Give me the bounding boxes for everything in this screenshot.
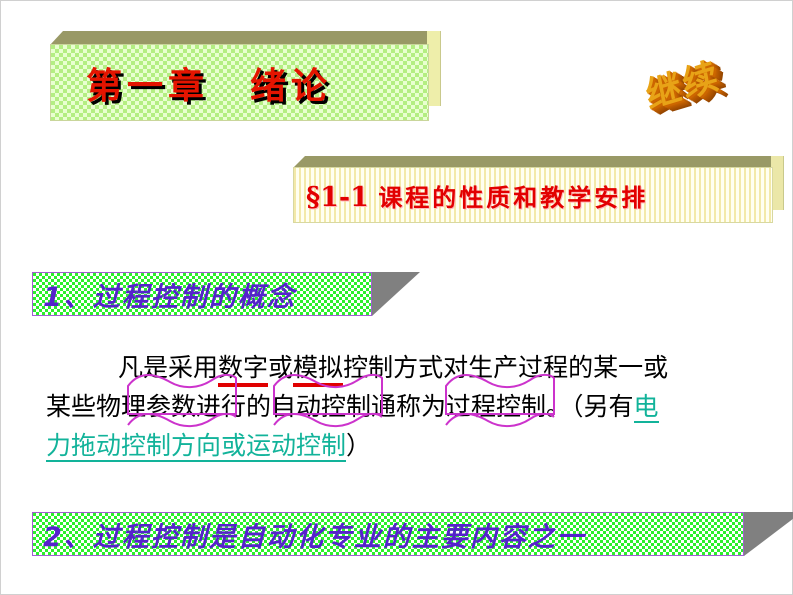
heading-2-body: 2、过程控制是自动化专业的主要内容之一 bbox=[32, 512, 744, 556]
paragraph-line-2: 某些物理参数进行的自动控制通称为过程控制。（另有电 bbox=[46, 387, 786, 426]
title-banner-right-bevel bbox=[427, 31, 441, 106]
section-subject-text: 课程的性质和教学安排 bbox=[378, 184, 648, 212]
title-banner-face: 第一章 绪论 bbox=[50, 44, 429, 121]
paragraph-link-part-2[interactable]: 力拖动控制方向或运动控制 bbox=[46, 431, 346, 462]
heading-process-control-concept: 1、过程控制的概念 bbox=[32, 272, 382, 316]
title-banner-top-bevel bbox=[50, 31, 440, 45]
paragraph-link-part-1[interactable]: 电 bbox=[634, 392, 659, 423]
paragraph-line-1: 凡是采用数字或模拟控制方式对生产过程的某一或 bbox=[46, 348, 786, 387]
paragraph-line2-text: 某些物理参数进行的自动控制通称为过程控制。（另有 bbox=[46, 392, 634, 421]
heading-2-text: 2、过程控制是自动化专业的主要内容之一 bbox=[33, 515, 586, 554]
paragraph-underlined-analog: 模拟 bbox=[293, 353, 343, 387]
continue-wordart[interactable]: 继续 bbox=[640, 58, 760, 138]
body-paragraph: 凡是采用数字或模拟控制方式对生产过程的某一或 某些物理参数进行的自动控制通称为过… bbox=[46, 348, 786, 465]
heading-1-arrow-shape bbox=[372, 272, 420, 316]
paragraph-underlined-digital: 数字 bbox=[218, 353, 268, 387]
section-marker: §1-1 bbox=[306, 182, 369, 213]
continue-wordart-text[interactable]: 继续 bbox=[641, 46, 724, 120]
heading-2-arrow-shape bbox=[744, 512, 793, 556]
paragraph-line-3: 力拖动控制方向或运动控制） bbox=[46, 426, 786, 465]
section-title-banner: §1-1 课程的性质和教学安排 bbox=[293, 167, 771, 221]
paragraph-line3-close-paren: ） bbox=[346, 431, 371, 460]
paragraph-line1-part-c: 控制方式对生产过程的某一或 bbox=[343, 353, 668, 382]
section-banner-face: §1-1 课程的性质和教学安排 bbox=[293, 167, 773, 223]
heading-1-body: 1、过程控制的概念 bbox=[32, 272, 372, 316]
heading-1-text: 1、过程控制的概念 bbox=[33, 275, 296, 314]
section-title-text: §1-1 课程的性质和教学安排 bbox=[294, 178, 648, 213]
paragraph-line1-part-b: 或 bbox=[268, 353, 293, 382]
chapter-title-banner: 第一章 绪论 bbox=[50, 44, 427, 119]
chapter-title-text: 第一章 绪论 bbox=[51, 57, 332, 109]
heading-process-control-major: 2、过程控制是自动化专业的主要内容之一 bbox=[32, 512, 792, 556]
paragraph-line1-part-a: 凡是采用 bbox=[118, 353, 218, 382]
